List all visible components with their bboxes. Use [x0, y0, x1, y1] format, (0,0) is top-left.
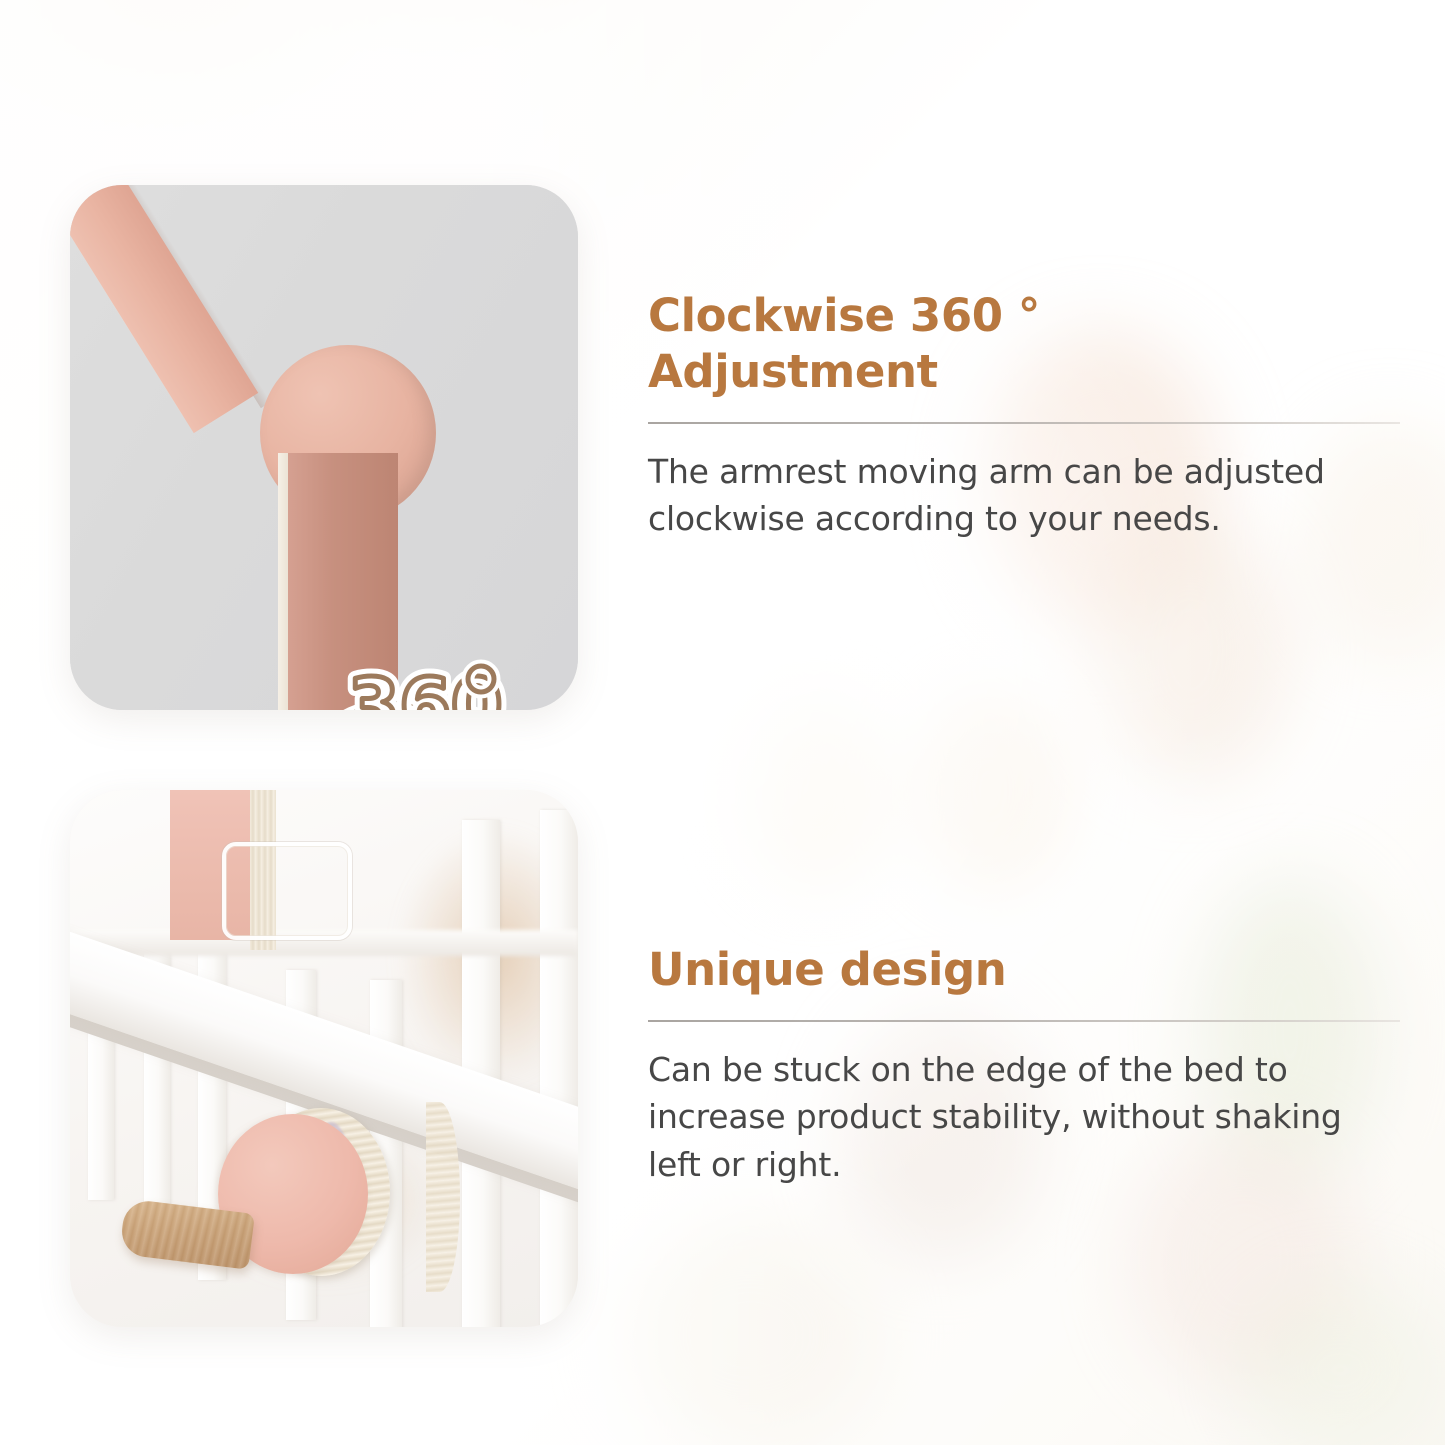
feature-heading-line-2: Adjustment — [648, 344, 1400, 400]
feature-body-text: The armrest moving arm can be adjusted c… — [648, 448, 1400, 543]
feature-text-clockwise-360-adjustment: Clockwise 360 ° Adjustment The armrest m… — [648, 288, 1400, 543]
feature-text-unique-design: Unique design Can be stuck on the edge o… — [648, 942, 1400, 1188]
detail-callout-box — [222, 842, 352, 940]
feature-heading-line-1: Clockwise 360 ° — [648, 288, 1400, 344]
feature-heading-line-1: Unique design — [648, 942, 1400, 998]
feature-heading: Unique design — [648, 942, 1400, 998]
rotation-360-badge: 360 360 — [318, 653, 508, 710]
heading-divider — [648, 422, 1400, 424]
feature-image-armrest-hinge-closeup: 360 360 — [70, 185, 578, 710]
feature-body-text: Can be stuck on the edge of the bed to i… — [648, 1046, 1400, 1189]
heading-divider — [648, 1020, 1400, 1022]
feature-heading: Clockwise 360 ° Adjustment — [648, 288, 1400, 400]
infographic-canvas: 360 360 — [0, 0, 1445, 1445]
crib-slat — [540, 810, 578, 1327]
